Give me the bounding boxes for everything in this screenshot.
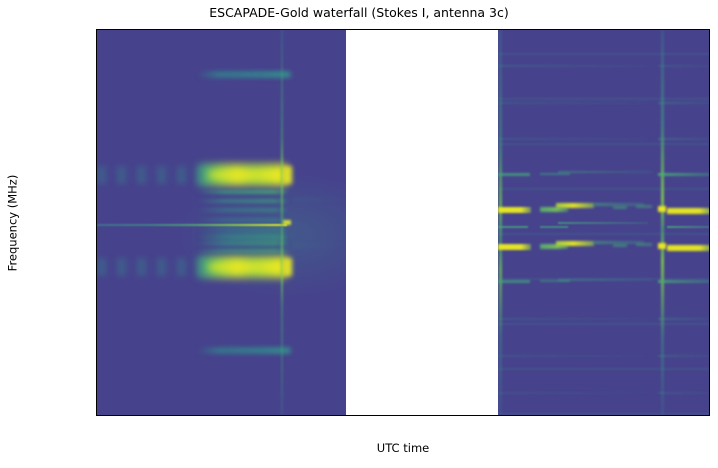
y-tick-label: 8422.9	[96, 369, 97, 382]
x-axis-label: UTC time	[96, 441, 710, 455]
x-tick-mark	[429, 415, 430, 416]
plot-area: 8423.3 8423.2 8423.1 8423.0 8422.9 13:00…	[96, 29, 710, 416]
y-axis-label-text: Frequency (MHz)	[5, 174, 19, 271]
x-tick-mark	[341, 415, 342, 416]
x-tick-label: 17:00	[500, 415, 532, 416]
y-tick-label: 8423.0	[96, 294, 97, 307]
x-tick-label: 19:00	[675, 415, 707, 416]
x-tick-mark	[604, 415, 605, 416]
spectrogram-block-pass-1	[97, 30, 346, 415]
waterfall-figure: ESCAPADE-Gold waterfall (Stokes I, anten…	[0, 0, 718, 468]
block-background	[97, 30, 346, 415]
data-gap-region	[346, 30, 498, 415]
block-background	[498, 30, 710, 415]
x-tick-label: 16:00	[413, 415, 445, 416]
x-tick-mark	[516, 415, 517, 416]
y-axis-label: Frequency (MHz)	[4, 29, 20, 416]
x-tick-label: 15:00	[325, 415, 357, 416]
page-title: ESCAPADE-Gold waterfall (Stokes I, anten…	[0, 5, 718, 20]
x-tick-label: 13:00	[144, 415, 176, 416]
y-tick-label: 8423.1	[96, 219, 97, 232]
x-tick-mark	[691, 415, 692, 416]
x-tick-mark	[253, 415, 254, 416]
x-tick-label: 14:00	[237, 415, 269, 416]
x-tick-mark	[160, 415, 161, 416]
x-tick-label: 18:00	[588, 415, 620, 416]
spectrogram-block-pass-2	[498, 30, 710, 415]
y-tick-label: 8423.2	[96, 145, 97, 158]
y-tick-label: 8423.3	[96, 70, 97, 83]
